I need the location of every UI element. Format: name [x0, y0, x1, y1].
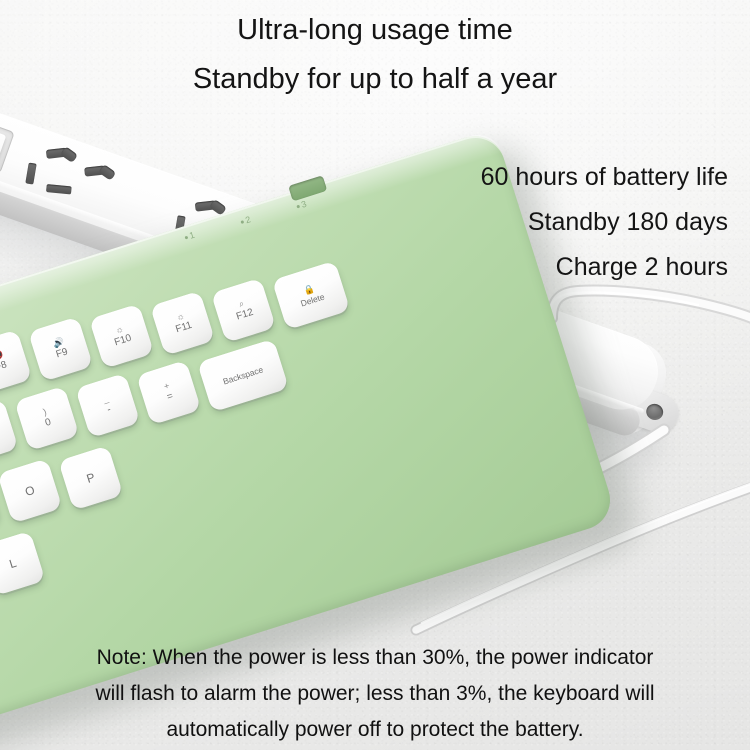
socket-slot-vertical [25, 163, 36, 185]
socket-pin-neutral-b [98, 164, 116, 181]
note-line-2: will flash to alarm the power; less than… [0, 682, 750, 706]
headline-line-1: Ultra-long usage time [0, 14, 750, 47]
feature-standby: Standby 180 days [528, 208, 728, 237]
search-icon: ⌕ [238, 299, 246, 309]
note-line-1: Note: When the power is less than 30%, t… [0, 646, 750, 670]
socket-pin-live-b [60, 146, 78, 163]
socket-slot-horizontal [46, 184, 72, 194]
note-line-3: automatically power off to protect the b… [0, 718, 750, 742]
bt-dot-icon [184, 235, 188, 239]
bt-dot-icon [296, 204, 300, 208]
feature-charge-time: Charge 2 hours [556, 253, 728, 282]
feature-battery-life: 60 hours of battery life [481, 163, 728, 192]
bt-dot-icon [240, 220, 244, 224]
product-marketing-image: 1 2 3 ⏯ F5 ⏮ F6 ⏭ F7 [0, 0, 750, 750]
headline-line-2: Standby for up to half a year [0, 63, 750, 96]
